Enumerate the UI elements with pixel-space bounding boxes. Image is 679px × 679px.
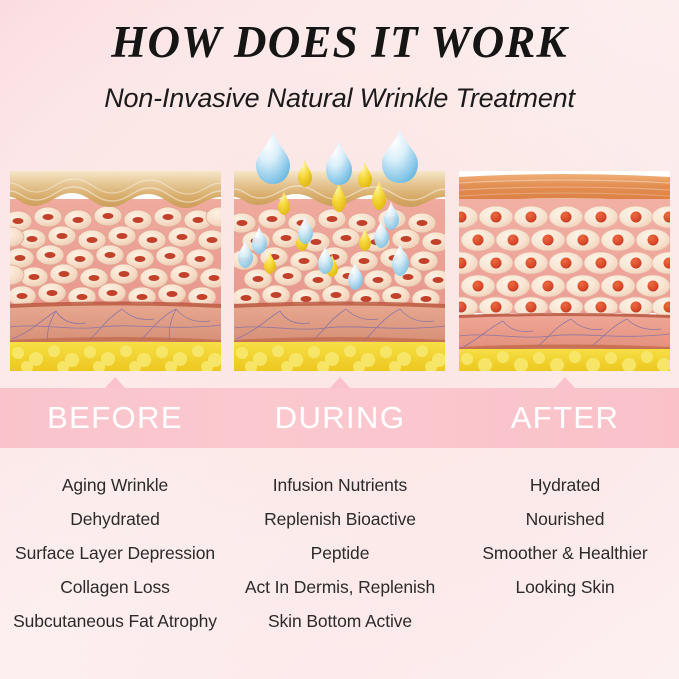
- benefit-column-during: Infusion Nutrients Replenish Bioactive P…: [227, 468, 453, 638]
- infographic-page: HOW DOES IT WORK Non-Invasive Natural Wr…: [0, 0, 679, 679]
- falling-droplets-group: [234, 127, 445, 187]
- page-subtitle: Non-Invasive Natural Wrinkle Treatment: [0, 83, 679, 114]
- serum-drop-left: [298, 159, 312, 187]
- during-skin-illustration: [234, 171, 445, 371]
- after-skin-illustration: [459, 171, 670, 371]
- list-item: Surface Layer Depression: [2, 536, 228, 570]
- list-item: Looking Skin: [452, 570, 678, 604]
- list-item: Peptide: [227, 536, 453, 570]
- water-drop-large-left: [256, 129, 290, 184]
- serum-drop-right: [358, 161, 372, 187]
- list-item: Infusion Nutrients: [227, 468, 453, 502]
- skin-diagram-before: [10, 171, 221, 371]
- skin-diagram-during: [234, 171, 445, 371]
- skin-diagram-after: [459, 171, 670, 371]
- list-item: Smoother & Healthier: [452, 536, 678, 570]
- list-item: Skin Bottom Active: [227, 604, 453, 638]
- list-item: Act In Dermis, Replenish: [227, 570, 453, 604]
- benefit-column-after: Hydrated Nourished Smoother & Healthier …: [452, 468, 678, 604]
- before-skin-illustration: [10, 171, 221, 371]
- list-item: Nourished: [452, 502, 678, 536]
- list-item: Subcutaneous Fat Atrophy: [2, 604, 228, 638]
- stage-label-after: AFTER: [452, 388, 678, 448]
- stage-notch-before: [105, 377, 125, 388]
- stage-label-during: DURING: [227, 388, 453, 448]
- list-item: Aging Wrinkle: [2, 468, 228, 502]
- list-item: Hydrated: [452, 468, 678, 502]
- page-title: HOW DOES IT WORK: [0, 16, 679, 68]
- diagram-panels: [0, 171, 679, 372]
- water-drop-medium-center: [326, 139, 352, 185]
- stage-notch-after: [555, 377, 575, 388]
- stage-notch-during: [330, 377, 350, 388]
- stage-label-before: BEFORE: [2, 388, 228, 448]
- water-drop-large-right: [382, 127, 418, 183]
- stage-band: BEFORE DURING AFTER: [0, 388, 679, 448]
- list-item: Collagen Loss: [2, 570, 228, 604]
- benefit-columns: Aging Wrinkle Dehydrated Surface Layer D…: [0, 468, 679, 648]
- list-item: Dehydrated: [2, 502, 228, 536]
- list-item: Replenish Bioactive: [227, 502, 453, 536]
- benefit-column-before: Aging Wrinkle Dehydrated Surface Layer D…: [2, 468, 228, 638]
